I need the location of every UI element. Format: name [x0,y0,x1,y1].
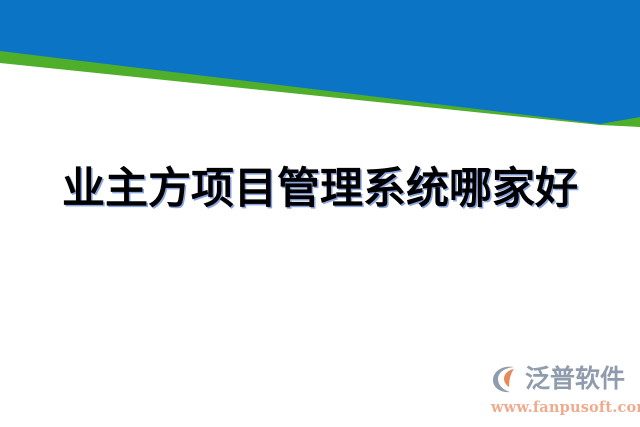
brand-logo: 泛普软件 www.fanpusoft.com [486,355,632,415]
banner-green-band [0,50,640,127]
page-title: 业主方项目管理系统哪家好 [0,165,640,213]
brand-logo-row: 泛普软件 [486,362,625,396]
header-banner [0,0,640,140]
brand-name: 泛普软件 [525,366,625,391]
page-title-text: 业主方项目管理系统哪家好 [62,165,578,213]
fanpu-swoosh-icon [490,364,522,394]
banner-blue-shape [0,0,640,124]
brand-url: www.fanpusoft.com [486,401,640,416]
slide-canvas: 业主方项目管理系统哪家好 泛普软件 www.fanpusoft.com [0,0,640,427]
